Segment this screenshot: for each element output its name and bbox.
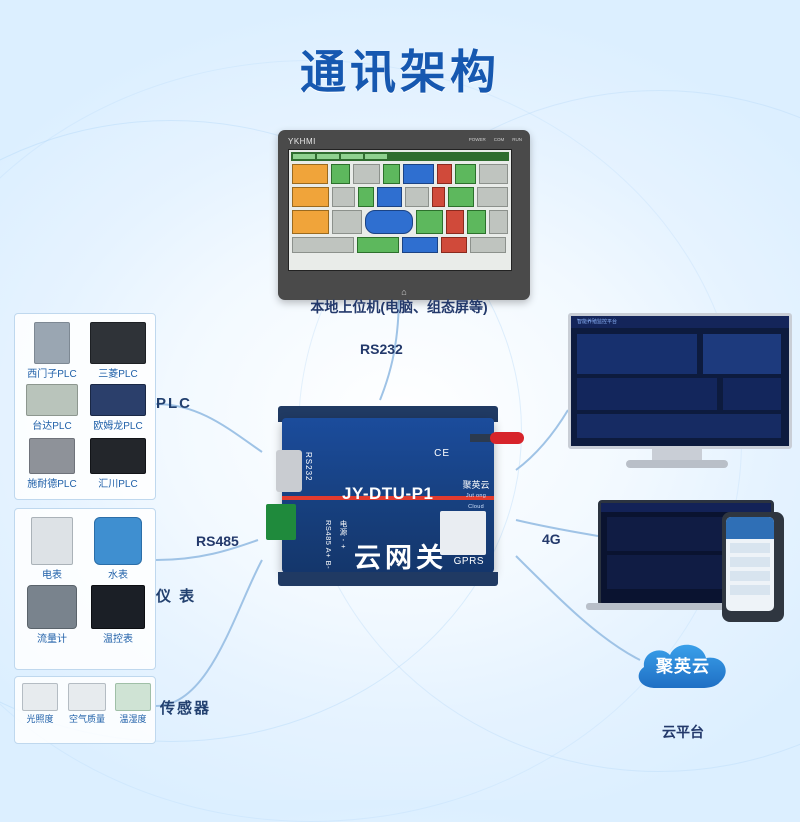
- device-label: 汇川PLC: [85, 475, 151, 490]
- monitor-screen-title: 智能养殖监控平台: [577, 318, 617, 325]
- device-label: 施耐德PLC: [21, 475, 83, 490]
- plc-group-label: PLC: [156, 395, 192, 412]
- sim-card-slot: [440, 511, 486, 555]
- link-label-rs485: RS485: [196, 533, 239, 549]
- plc-group: 西门子PLC 三菱PLC 台达PLC 欧姆龙PLC 施耐德PLC 汇川PLC: [14, 313, 156, 500]
- phone-device: [722, 512, 784, 622]
- gateway-power-label: 电源 - +: [338, 520, 349, 549]
- device-temperature-controller: 温控表: [85, 585, 151, 645]
- hmi-screen-row: [289, 210, 511, 234]
- antenna-base: [470, 434, 492, 442]
- hmi-panel: YKHMI POWER COM RUN: [278, 130, 530, 300]
- monitor-base: [626, 460, 728, 468]
- device-label: 三菱PLC: [85, 365, 151, 380]
- device-flow-meter: 流量计: [21, 585, 83, 645]
- device-siemens-plc: 西门子PLC: [21, 322, 83, 380]
- gateway-db9-label: RS232: [304, 452, 313, 481]
- link-label-4g: 4G: [542, 531, 561, 547]
- device-schneider-plc: 施耐德PLC: [21, 438, 83, 490]
- gateway-main-text: 云网关: [354, 536, 447, 575]
- gateway-gprs-label: GPRS: [454, 556, 484, 567]
- cloud-caption: 云平台: [628, 722, 738, 742]
- gateway-cloud-brand-text: 聚英云: [462, 480, 489, 490]
- device-label: 温湿度: [113, 712, 153, 725]
- hmi-screen-topbar: [291, 152, 509, 161]
- monitor-device: 智能养殖监控平台: [568, 313, 786, 473]
- hmi-brand-label: YKHMI: [288, 137, 316, 146]
- sensors-group-label: 传感器: [160, 697, 211, 718]
- hmi-screen-row: [289, 237, 511, 253]
- hmi-screen-row: [289, 164, 511, 184]
- device-label: 台达PLC: [21, 417, 83, 432]
- hmi-screen: [288, 149, 512, 271]
- db9-connector: RS232: [276, 450, 302, 492]
- gateway-bottom-rail: [278, 572, 498, 586]
- hmi-led-power: POWER: [469, 137, 486, 142]
- gateway-device: CE JY-DTU-P1 聚英云 Jut ong Cloud 云网关 GPRS …: [258, 400, 516, 590]
- device-label: 空气质量: [63, 712, 111, 725]
- gateway-ce-mark: CE: [434, 448, 450, 459]
- cloud-platform-icon: 聚英云: [628, 634, 738, 696]
- device-label: 西门子PLC: [21, 365, 83, 380]
- device-label: 欧姆龙PLC: [85, 417, 151, 432]
- cloud-name-label: 聚英云: [628, 652, 738, 677]
- rs485-terminal-block: [266, 504, 296, 540]
- device-electric-meter: 电表: [21, 517, 83, 581]
- device-air-quality-sensor: 空气质量: [63, 683, 111, 725]
- gateway-body: CE JY-DTU-P1 聚英云 Jut ong Cloud 云网关 GPRS …: [282, 418, 494, 573]
- device-mitsubishi-plc: 三菱PLC: [85, 322, 151, 380]
- link-label-rs232: RS232: [360, 341, 403, 357]
- device-inovance-plc: 汇川PLC: [85, 438, 151, 490]
- device-light-sensor: 光照度: [19, 683, 61, 725]
- page-title: 通讯架构: [0, 36, 800, 102]
- meters-group-label: 仪 表: [156, 585, 196, 606]
- device-label: 光照度: [19, 712, 61, 725]
- antenna-icon: [490, 432, 524, 444]
- device-temp-humidity-sensor: 温湿度: [113, 683, 153, 725]
- device-label: 温控表: [85, 630, 151, 645]
- hmi-screen-row: [289, 187, 511, 207]
- device-label: 电表: [21, 566, 83, 581]
- monitor-screen: 智能养殖监控平台: [568, 313, 792, 449]
- hmi-caption: 本地上位机(电脑、组态屏等): [278, 297, 520, 317]
- device-omron-plc: 欧姆龙PLC: [85, 384, 151, 432]
- gateway-rs485-label: RS485 A+ B-: [324, 520, 333, 569]
- meters-group: 电表 水表 流量计 温控表: [14, 508, 156, 670]
- device-label: 流量计: [21, 630, 83, 645]
- gateway-cloud-brand: 聚英云 Jut ong Cloud: [458, 480, 494, 513]
- home-icon: ⌂: [401, 287, 406, 297]
- hmi-led-run: RUN: [512, 137, 522, 142]
- sensors-group: 光照度 空气质量 温湿度: [14, 676, 156, 744]
- phone-screen: [726, 517, 774, 611]
- hmi-led-row: POWER COM RUN: [469, 137, 522, 142]
- gateway-cloud-brand-en: Jut ong Cloud: [458, 491, 494, 513]
- device-delta-plc: 台达PLC: [21, 384, 83, 432]
- gateway-model-label: JY-DTU-P1: [342, 484, 433, 504]
- hmi-led-com: COM: [494, 137, 505, 142]
- device-water-meter: 水表: [85, 517, 151, 581]
- device-label: 水表: [85, 566, 151, 581]
